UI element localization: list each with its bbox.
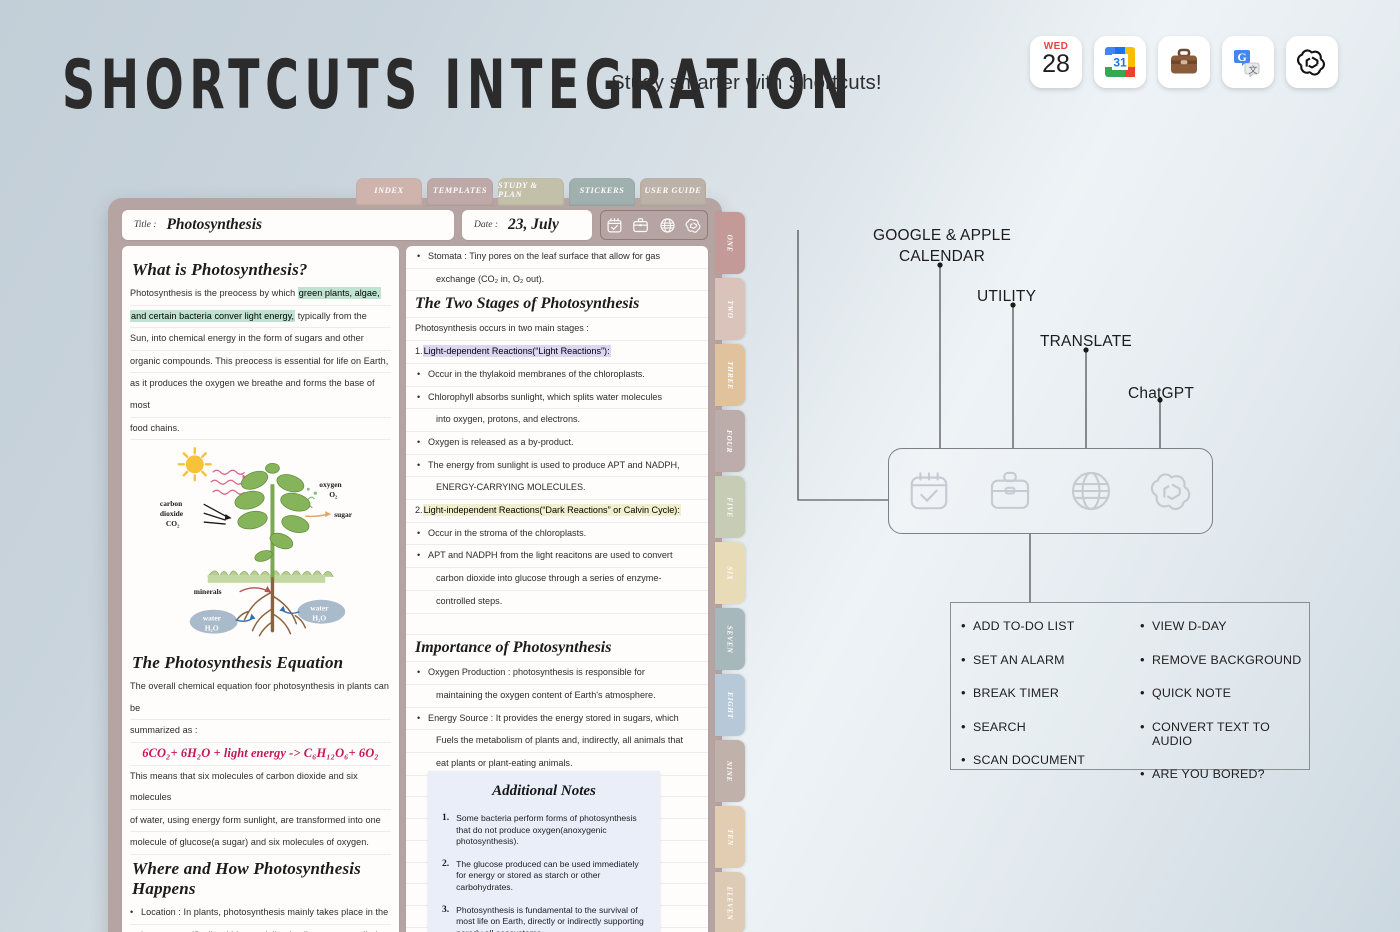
side-tab-three[interactable]: THREE — [715, 344, 745, 406]
notebook-pages: What is Photosynthesis? Photosynthesis i… — [122, 246, 708, 932]
bullet-text: The energy from sunlight is used to prod… — [428, 460, 680, 470]
heading-what-is-photosynthesis: What is Photosynthesis? — [132, 260, 391, 280]
feature-item[interactable]: SET AN ALARM — [973, 653, 1130, 667]
bullet-text: Oxygen is released as a by-product. — [428, 437, 574, 447]
para3-line2: leaves, specifically within specialized … — [130, 925, 391, 932]
chatgpt-icon[interactable] — [1149, 468, 1195, 514]
label-minerals: minerals — [194, 587, 222, 596]
heading-photosynthesis-equation: The Photosynthesis Equation — [132, 653, 391, 673]
label-utility: UTILITY — [977, 288, 1036, 306]
feature-item[interactable]: CONVERT TEXT TO AUDIO — [1152, 720, 1309, 748]
highlight-green-1: green plants, algae, — [298, 287, 381, 299]
tab-templates[interactable]: TEMPLATES — [427, 178, 493, 206]
photosynthesis-equation: 6CO₂+ 6H₂O + light energy -> C₆H₁₂O₆+ 6O… — [130, 743, 391, 766]
briefcase-icon[interactable] — [987, 468, 1033, 514]
notebook-top-tabs: INDEX TEMPLATES STUDY & PLAN STICKERS US… — [356, 178, 706, 206]
bullet-text: Occur in the thylakoid membranes of the … — [428, 369, 645, 379]
note-number: 3. — [442, 905, 449, 932]
title-date-bar: Title : Photosynthesis Date : 23, July — [122, 210, 708, 240]
chatgpt-icon[interactable] — [685, 217, 702, 234]
side-tab-label: FOUR — [726, 429, 735, 452]
date-field[interactable]: Date : 23, July — [462, 210, 592, 240]
side-tab-label: SEVEN — [726, 625, 735, 653]
section-heading: The Two Stages of Photosynthesis — [406, 291, 708, 318]
shortcut-icon-bar — [600, 210, 708, 240]
label-co2: CO₂ — [166, 519, 180, 528]
label-water-1: water — [203, 614, 222, 623]
numbered-highlight-row: 2.Light-independent Reactions(“Dark Reac… — [406, 500, 708, 523]
tab-user-guide[interactable]: USER GUIDE — [640, 178, 706, 206]
bullet-row: •Stomata : Tiny pores on the leaf surfac… — [406, 246, 708, 269]
note-number: 2. — [442, 859, 449, 894]
continuation-row: carbon dioxide into glucose through a se… — [406, 568, 708, 591]
side-tab-nine[interactable]: NINE — [715, 740, 745, 802]
feature-item[interactable]: VIEW D-DAY — [1152, 619, 1309, 633]
briefcase-icon[interactable] — [632, 217, 649, 234]
feature-item[interactable]: SCAN DOCUMENT — [973, 753, 1130, 767]
bullet-row: •APT and NADPH from the light reacitons … — [406, 545, 708, 568]
label-dioxide: dioxide — [160, 509, 184, 518]
side-tab-seven[interactable]: SEVEN — [715, 608, 745, 670]
bullet-row: •Oxygen Production : photosynthesis is r… — [406, 662, 708, 685]
side-tab-two[interactable]: TWO — [715, 278, 745, 340]
heading-where-and-how: Where and How Photosynthesis Happens — [132, 859, 391, 899]
label-water-2: water — [310, 604, 329, 613]
note-text: Some bacteria perform forms of photosynt… — [456, 813, 646, 848]
side-tab-label: ONE — [726, 234, 735, 252]
shortcuts-hub — [888, 448, 1213, 534]
para2-line4: of water, using energy form sunlight, ar… — [130, 810, 391, 833]
title-field[interactable]: Title : Photosynthesis — [122, 210, 454, 240]
side-tab-eight[interactable]: EIGHT — [715, 674, 745, 736]
additional-notes-card: Additional Notes 1.Some bacteria perform… — [428, 771, 660, 932]
side-tab-label: EIGHT — [726, 692, 735, 719]
notes-page-left: What is Photosynthesis? Photosynthesis i… — [122, 246, 399, 932]
bullet-row: •Occur in the thylakoid membranes of the… — [406, 364, 708, 387]
para2-line2: summarized as : — [130, 720, 391, 743]
note-text: Photosynthesis is fundamental to the sur… — [456, 905, 646, 932]
additional-note-item: 2.The glucose produced can be used immed… — [442, 859, 646, 894]
tab-index[interactable]: INDEX — [356, 178, 422, 206]
plain-row — [406, 614, 708, 636]
side-tab-label: SIX — [726, 566, 735, 580]
bullet-row: •The energy from sunlight is used to pro… — [406, 455, 708, 478]
label-google-apple-calendar-line1: GOOGLE & APPLE — [872, 225, 1012, 246]
feature-item[interactable]: REMOVE BACKGROUND — [1152, 653, 1309, 667]
side-tab-label: TEN — [725, 829, 734, 846]
bullet-text: Occur in the stroma of the chloroplasts. — [428, 528, 586, 538]
continuation-row: into oxygen, protons, and electrons. — [406, 409, 708, 432]
continuation-row: maintaining the oxygen content of Earth'… — [406, 685, 708, 708]
continuation-row: controlled steps. — [406, 591, 708, 614]
label-h2o-1: H₂O — [205, 624, 219, 633]
date-value: 23, July — [508, 216, 559, 234]
side-tab-six[interactable]: SIX — [715, 542, 745, 604]
highlight-green-2: and certain bacteria conver light energy… — [130, 310, 295, 322]
para1-line5: as it produces the oxygen we breathe and… — [130, 373, 391, 417]
bullet-row: •Energy Source : It provides the energy … — [406, 708, 708, 731]
additional-notes-title: Additional Notes — [442, 783, 646, 800]
label-sugar: sugar — [334, 510, 353, 519]
sun-icon — [179, 449, 211, 481]
feature-item[interactable]: BREAK TIMER — [973, 686, 1130, 700]
list-number: 2. — [415, 505, 423, 515]
section-heading: Importance of Photosynthesis — [406, 635, 708, 662]
tab-study-plan[interactable]: STUDY & PLAN — [498, 178, 564, 206]
title-label: Title : — [134, 220, 156, 230]
side-tab-five[interactable]: FIVE — [715, 476, 745, 538]
tab-stickers[interactable]: STICKERS — [569, 178, 635, 206]
label-oxygen: oxygen — [319, 480, 342, 489]
notes-page-right: •Stomata : Tiny pores on the leaf surfac… — [406, 246, 708, 932]
notebook-side-tabs: ONETWOTHREEFOURFIVESIXSEVENEIGHTNINETENE… — [715, 212, 745, 932]
bullet-row: •Chlorophyll absorbs sunlight, which spl… — [406, 387, 708, 410]
feature-column-left: ADD TO-DO LISTSET AN ALARMBREAK TIMERSEA… — [951, 619, 1130, 769]
shortcut-feature-list: ADD TO-DO LISTSET AN ALARMBREAK TIMERSEA… — [950, 602, 1310, 770]
highlight-yellow: Light-independent Reactions(“Dark Reacti… — [423, 504, 681, 516]
para1-line2-b: typically from the — [295, 311, 367, 321]
bullet-row: •Occur in the stroma of the chloroplasts… — [406, 523, 708, 546]
additional-notes-list: 1.Some bacteria perform forms of photosy… — [442, 813, 646, 932]
para2-line5: molecule of glucose(a sugar) and six mol… — [130, 832, 391, 855]
feature-item[interactable]: ARE YOU BORED? — [1152, 767, 1309, 781]
list-number: 1. — [415, 346, 423, 356]
label-translate: TRANSLATE — [1040, 333, 1132, 351]
notebook-planner: INDEX TEMPLATES STUDY & PLAN STICKERS US… — [108, 198, 722, 932]
title-value: Photosynthesis — [166, 216, 262, 234]
date-label: Date : — [474, 220, 498, 230]
photosynthesis-plant-diagram: carbon dioxide CO₂ oxygen O₂ sugar miner… — [130, 444, 391, 642]
para2-line1: The overall chemical equation foor photo… — [130, 676, 391, 720]
globe-icon[interactable] — [1068, 468, 1114, 514]
bullet-row: •Oxygen is released as a by-product. — [406, 432, 708, 455]
bullet-text: Energy Source : It provides the energy s… — [428, 713, 679, 723]
globe-icon[interactable] — [659, 217, 676, 234]
label-h2o-2: H₂O — [312, 614, 326, 623]
shortcuts-flow-diagram: GOOGLE & APPLE CALENDAR UTILITY TRANSLAT… — [760, 60, 1360, 800]
label-o2: O₂ — [329, 490, 338, 499]
label-chatgpt: ChatGPT — [1128, 385, 1194, 403]
side-tab-label: NINE — [726, 760, 735, 781]
note-text: The glucose produced can be used immedia… — [456, 859, 646, 894]
calendar-check-icon[interactable] — [906, 468, 952, 514]
side-tab-four[interactable]: FOUR — [715, 410, 745, 472]
para3-line1: Location : In plants, photosynthesis mai… — [141, 907, 388, 917]
continuation-row: ENERGY-CARRYING MOLECULES. — [406, 477, 708, 500]
side-tab-one[interactable]: ONE — [715, 212, 745, 274]
side-tab-eleven[interactable]: ELEVEN — [715, 872, 745, 932]
para1-line6: food chains. — [130, 418, 391, 441]
side-tab-label: THREE — [726, 361, 735, 390]
continuation-row: Fuels the metabolism of plants and, indi… — [406, 730, 708, 753]
side-tab-label: ELEVEN — [726, 886, 735, 920]
feature-item[interactable]: ADD TO-DO LIST — [973, 619, 1130, 633]
bullet-text: Oxygen Production : photosynthesis is re… — [428, 667, 645, 677]
calendar-check-icon[interactable] — [606, 217, 623, 234]
side-tab-label: TWO — [726, 300, 735, 319]
label-google-apple-calendar-line2: CALENDAR — [872, 246, 1012, 267]
additional-note-item: 3.Photosynthesis is fundamental to the s… — [442, 905, 646, 932]
plain-row: Photosynthesis occurs in two main stages… — [406, 318, 708, 341]
bullet-text: Chlorophyll absorbs sunlight, which spli… — [428, 392, 662, 402]
feature-column-right: VIEW D-DAYREMOVE BACKGROUNDQUICK NOTECON… — [1130, 619, 1309, 769]
feature-item[interactable]: QUICK NOTE — [1152, 686, 1309, 700]
note-number: 1. — [442, 813, 449, 848]
para1-line4: organic compounds. This preocess is esse… — [130, 351, 391, 374]
additional-note-item: 1.Some bacteria perform forms of photosy… — [442, 813, 646, 848]
para1-line1-a: Photosynthesis is the preocess by which — [130, 288, 298, 298]
label-carbon: carbon — [160, 499, 183, 508]
para2-line3: This means that six molecules of carbon … — [130, 766, 391, 810]
bullet-text: APT and NADPH from the light reacitons a… — [428, 550, 672, 560]
continuation-row: exchange (CO₂ in, O₂ out). — [406, 269, 708, 292]
bullet-text: Stomata : Tiny pores on the leaf surface… — [428, 251, 660, 261]
side-tab-label: FIVE — [726, 497, 735, 517]
para1-line3: Sun, into chemical energy in the form of… — [130, 328, 391, 351]
highlight-purple: Light-dependent Reactions(“Light Reactio… — [423, 345, 611, 357]
numbered-highlight-row: 1.Light-dependent Reactions(“Light React… — [406, 341, 708, 364]
side-tab-ten[interactable]: TEN — [715, 806, 745, 868]
feature-item[interactable]: SEARCH — [973, 720, 1130, 734]
